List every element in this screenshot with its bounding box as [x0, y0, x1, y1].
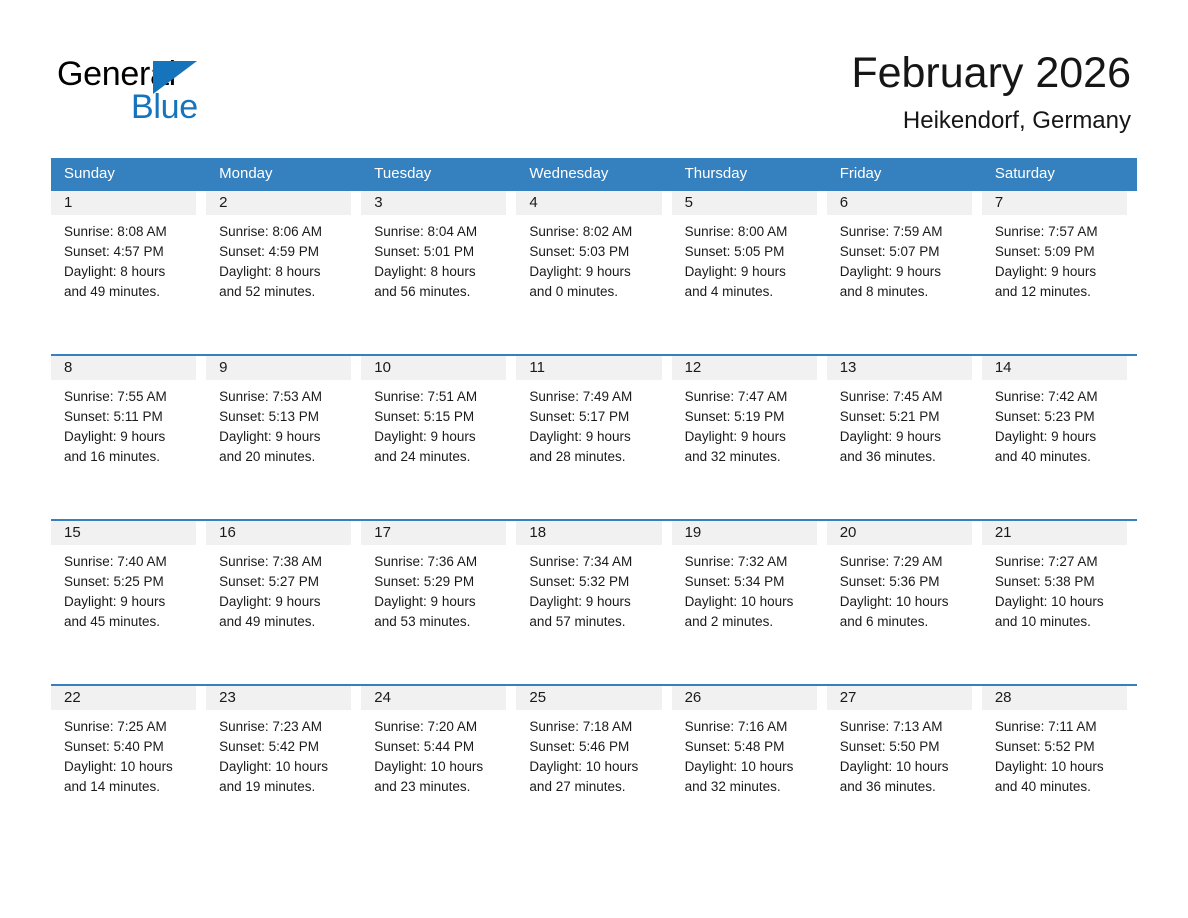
daylight-text-line2: and 14 minutes. — [64, 777, 196, 797]
day-number: 18 — [516, 521, 661, 545]
day-cell[interactable]: 8 Sunrise: 7:55 AM Sunset: 5:11 PM Dayli… — [51, 356, 206, 519]
daylight-text-line1: Daylight: 8 hours — [219, 262, 351, 282]
day-number: 23 — [206, 686, 351, 710]
sunrise-text: Sunrise: 7:57 AM — [995, 222, 1127, 242]
sunrise-text: Sunrise: 7:47 AM — [685, 387, 817, 407]
day-info: Sunrise: 7:34 AM Sunset: 5:32 PM Dayligh… — [516, 545, 661, 632]
sunset-text: Sunset: 5:36 PM — [840, 572, 972, 592]
daylight-text-line2: and 0 minutes. — [529, 282, 661, 302]
daylight-text-line2: and 16 minutes. — [64, 447, 196, 467]
day-cell[interactable]: 12 Sunrise: 7:47 AM Sunset: 5:19 PM Dayl… — [672, 356, 827, 519]
sunrise-text: Sunrise: 7:18 AM — [529, 717, 661, 737]
sunset-text: Sunset: 5:01 PM — [374, 242, 506, 262]
daylight-text-line1: Daylight: 8 hours — [374, 262, 506, 282]
daylight-text-line2: and 36 minutes. — [840, 777, 972, 797]
daylight-text-line2: and 19 minutes. — [219, 777, 351, 797]
daylight-text-line1: Daylight: 10 hours — [64, 757, 196, 777]
day-number: 25 — [516, 686, 661, 710]
day-info: Sunrise: 7:11 AM Sunset: 5:52 PM Dayligh… — [982, 710, 1127, 797]
daylight-text-line2: and 40 minutes. — [995, 777, 1127, 797]
generalblue-logo[interactable]: General Blue — [57, 54, 357, 134]
daylight-text-line2: and 32 minutes. — [685, 777, 817, 797]
sunset-text: Sunset: 5:17 PM — [529, 407, 661, 427]
day-number: 24 — [361, 686, 506, 710]
day-info: Sunrise: 7:16 AM Sunset: 5:48 PM Dayligh… — [672, 710, 817, 797]
sunrise-text: Sunrise: 7:27 AM — [995, 552, 1127, 572]
sunset-text: Sunset: 5:19 PM — [685, 407, 817, 427]
day-number: 2 — [206, 191, 351, 215]
day-number: 15 — [51, 521, 196, 545]
daylight-text-line1: Daylight: 9 hours — [529, 592, 661, 612]
day-cell[interactable]: 24 Sunrise: 7:20 AM Sunset: 5:44 PM Dayl… — [361, 686, 516, 849]
sunset-text: Sunset: 5:27 PM — [219, 572, 351, 592]
sunset-text: Sunset: 5:42 PM — [219, 737, 351, 757]
sunrise-text: Sunrise: 7:53 AM — [219, 387, 351, 407]
day-info: Sunrise: 7:18 AM Sunset: 5:46 PM Dayligh… — [516, 710, 661, 797]
sunrise-text: Sunrise: 7:51 AM — [374, 387, 506, 407]
sunrise-text: Sunrise: 8:06 AM — [219, 222, 351, 242]
day-number: 8 — [51, 356, 196, 380]
sunrise-text: Sunrise: 7:13 AM — [840, 717, 972, 737]
day-info: Sunrise: 7:40 AM Sunset: 5:25 PM Dayligh… — [51, 545, 196, 632]
sunset-text: Sunset: 5:32 PM — [529, 572, 661, 592]
day-cell[interactable]: 6 Sunrise: 7:59 AM Sunset: 5:07 PM Dayli… — [827, 191, 982, 354]
daylight-text-line1: Daylight: 9 hours — [840, 427, 972, 447]
daylight-text-line1: Daylight: 10 hours — [840, 592, 972, 612]
weekday-monday: Monday — [206, 158, 361, 189]
sunset-text: Sunset: 5:09 PM — [995, 242, 1127, 262]
day-info: Sunrise: 7:23 AM Sunset: 5:42 PM Dayligh… — [206, 710, 351, 797]
sunset-text: Sunset: 5:13 PM — [219, 407, 351, 427]
daylight-text-line2: and 6 minutes. — [840, 612, 972, 632]
day-number: 6 — [827, 191, 972, 215]
day-cell[interactable]: 17 Sunrise: 7:36 AM Sunset: 5:29 PM Dayl… — [361, 521, 516, 684]
daylight-text-line1: Daylight: 10 hours — [374, 757, 506, 777]
daylight-text-line2: and 12 minutes. — [995, 282, 1127, 302]
sunrise-text: Sunrise: 7:23 AM — [219, 717, 351, 737]
daylight-text-line1: Daylight: 9 hours — [685, 427, 817, 447]
daylight-text-line1: Daylight: 10 hours — [529, 757, 661, 777]
sunrise-text: Sunrise: 7:20 AM — [374, 717, 506, 737]
day-info: Sunrise: 7:13 AM Sunset: 5:50 PM Dayligh… — [827, 710, 972, 797]
calendar-grid: Sunday Monday Tuesday Wednesday Thursday… — [51, 158, 1137, 849]
day-cell[interactable]: 3 Sunrise: 8:04 AM Sunset: 5:01 PM Dayli… — [361, 191, 516, 354]
daylight-text-line1: Daylight: 9 hours — [374, 592, 506, 612]
day-info: Sunrise: 8:06 AM Sunset: 4:59 PM Dayligh… — [206, 215, 351, 302]
sunrise-text: Sunrise: 7:42 AM — [995, 387, 1127, 407]
day-cell[interactable]: 27 Sunrise: 7:13 AM Sunset: 5:50 PM Dayl… — [827, 686, 982, 849]
day-number: 27 — [827, 686, 972, 710]
daylight-text-line1: Daylight: 9 hours — [64, 427, 196, 447]
day-cell[interactable]: 2 Sunrise: 8:06 AM Sunset: 4:59 PM Dayli… — [206, 191, 361, 354]
daylight-text-line1: Daylight: 9 hours — [64, 592, 196, 612]
sunrise-text: Sunrise: 7:45 AM — [840, 387, 972, 407]
daylight-text-line2: and 36 minutes. — [840, 447, 972, 467]
sunset-text: Sunset: 5:05 PM — [685, 242, 817, 262]
day-cell[interactable]: 15 Sunrise: 7:40 AM Sunset: 5:25 PM Dayl… — [51, 521, 206, 684]
daylight-text-line2: and 40 minutes. — [995, 447, 1127, 467]
sunset-text: Sunset: 5:03 PM — [529, 242, 661, 262]
sunset-text: Sunset: 5:21 PM — [840, 407, 972, 427]
daylight-text-line2: and 8 minutes. — [840, 282, 972, 302]
sunrise-text: Sunrise: 7:59 AM — [840, 222, 972, 242]
day-cell[interactable]: 5 Sunrise: 8:00 AM Sunset: 5:05 PM Dayli… — [672, 191, 827, 354]
logo-text-blue: Blue — [131, 87, 198, 127]
day-number: 13 — [827, 356, 972, 380]
day-info: Sunrise: 7:59 AM Sunset: 5:07 PM Dayligh… — [827, 215, 972, 302]
day-cell[interactable]: 7 Sunrise: 7:57 AM Sunset: 5:09 PM Dayli… — [982, 191, 1137, 354]
sunset-text: Sunset: 5:23 PM — [995, 407, 1127, 427]
day-info: Sunrise: 7:53 AM Sunset: 5:13 PM Dayligh… — [206, 380, 351, 467]
daylight-text-line1: Daylight: 10 hours — [685, 757, 817, 777]
weekday-friday: Friday — [827, 158, 982, 189]
day-info: Sunrise: 8:04 AM Sunset: 5:01 PM Dayligh… — [361, 215, 506, 302]
page-title: February 2026 — [851, 47, 1131, 99]
daylight-text-line1: Daylight: 9 hours — [685, 262, 817, 282]
sunset-text: Sunset: 5:52 PM — [995, 737, 1127, 757]
day-cell[interactable]: 13 Sunrise: 7:45 AM Sunset: 5:21 PM Dayl… — [827, 356, 982, 519]
sunset-text: Sunset: 5:29 PM — [374, 572, 506, 592]
daylight-text-line1: Daylight: 10 hours — [685, 592, 817, 612]
day-cell[interactable]: 23 Sunrise: 7:23 AM Sunset: 5:42 PM Dayl… — [206, 686, 361, 849]
daylight-text-line2: and 49 minutes. — [64, 282, 196, 302]
daylight-text-line1: Daylight: 9 hours — [374, 427, 506, 447]
sunset-text: Sunset: 5:38 PM — [995, 572, 1127, 592]
daylight-text-line2: and 32 minutes. — [685, 447, 817, 467]
sunrise-text: Sunrise: 7:36 AM — [374, 552, 506, 572]
sunset-text: Sunset: 4:59 PM — [219, 242, 351, 262]
day-number: 19 — [672, 521, 817, 545]
day-info: Sunrise: 7:32 AM Sunset: 5:34 PM Dayligh… — [672, 545, 817, 632]
sunrise-text: Sunrise: 7:38 AM — [219, 552, 351, 572]
week-row: 15 Sunrise: 7:40 AM Sunset: 5:25 PM Dayl… — [51, 519, 1137, 684]
sunrise-text: Sunrise: 8:04 AM — [374, 222, 506, 242]
daylight-text-line1: Daylight: 8 hours — [64, 262, 196, 282]
sunrise-text: Sunrise: 7:25 AM — [64, 717, 196, 737]
daylight-text-line1: Daylight: 9 hours — [995, 427, 1127, 447]
day-cell[interactable]: 9 Sunrise: 7:53 AM Sunset: 5:13 PM Dayli… — [206, 356, 361, 519]
day-info: Sunrise: 7:42 AM Sunset: 5:23 PM Dayligh… — [982, 380, 1127, 467]
week-row: 8 Sunrise: 7:55 AM Sunset: 5:11 PM Dayli… — [51, 354, 1137, 519]
sunrise-text: Sunrise: 7:11 AM — [995, 717, 1127, 737]
daylight-text-line1: Daylight: 10 hours — [995, 757, 1127, 777]
sunrise-text: Sunrise: 7:16 AM — [685, 717, 817, 737]
day-number: 16 — [206, 521, 351, 545]
weekday-sunday: Sunday — [51, 158, 206, 189]
day-cell[interactable]: 16 Sunrise: 7:38 AM Sunset: 5:27 PM Dayl… — [206, 521, 361, 684]
daylight-text-line1: Daylight: 9 hours — [995, 262, 1127, 282]
day-info: Sunrise: 7:47 AM Sunset: 5:19 PM Dayligh… — [672, 380, 817, 467]
day-number: 14 — [982, 356, 1127, 380]
daylight-text-line2: and 24 minutes. — [374, 447, 506, 467]
day-cell[interactable]: 21 Sunrise: 7:27 AM Sunset: 5:38 PM Dayl… — [982, 521, 1137, 684]
day-number: 26 — [672, 686, 817, 710]
day-info: Sunrise: 7:27 AM Sunset: 5:38 PM Dayligh… — [982, 545, 1127, 632]
day-number: 10 — [361, 356, 506, 380]
daylight-text-line1: Daylight: 9 hours — [840, 262, 972, 282]
day-info: Sunrise: 7:55 AM Sunset: 5:11 PM Dayligh… — [51, 380, 196, 467]
day-number: 11 — [516, 356, 661, 380]
sunrise-text: Sunrise: 7:55 AM — [64, 387, 196, 407]
weekday-saturday: Saturday — [982, 158, 1137, 189]
sunset-text: Sunset: 5:44 PM — [374, 737, 506, 757]
day-info: Sunrise: 7:51 AM Sunset: 5:15 PM Dayligh… — [361, 380, 506, 467]
daylight-text-line1: Daylight: 9 hours — [219, 427, 351, 447]
sunrise-text: Sunrise: 8:00 AM — [685, 222, 817, 242]
sunset-text: Sunset: 4:57 PM — [64, 242, 196, 262]
daylight-text-line2: and 53 minutes. — [374, 612, 506, 632]
weekday-tuesday: Tuesday — [361, 158, 516, 189]
day-cell[interactable]: 25 Sunrise: 7:18 AM Sunset: 5:46 PM Dayl… — [516, 686, 671, 849]
daylight-text-line1: Daylight: 9 hours — [529, 262, 661, 282]
day-number: 5 — [672, 191, 817, 215]
sunset-text: Sunset: 5:48 PM — [685, 737, 817, 757]
day-cell[interactable]: 10 Sunrise: 7:51 AM Sunset: 5:15 PM Dayl… — [361, 356, 516, 519]
sunset-text: Sunset: 5:50 PM — [840, 737, 972, 757]
calendar-page: General Blue February 2026 Heikendorf, G… — [0, 0, 1188, 918]
sunset-text: Sunset: 5:25 PM — [64, 572, 196, 592]
day-number: 1 — [51, 191, 196, 215]
title-block: February 2026 Heikendorf, Germany — [851, 47, 1131, 136]
week-row: 22 Sunrise: 7:25 AM Sunset: 5:40 PM Dayl… — [51, 684, 1137, 849]
daylight-text-line2: and 20 minutes. — [219, 447, 351, 467]
daylight-text-line2: and 2 minutes. — [685, 612, 817, 632]
daylight-text-line2: and 57 minutes. — [529, 612, 661, 632]
day-cell[interactable]: 18 Sunrise: 7:34 AM Sunset: 5:32 PM Dayl… — [516, 521, 671, 684]
day-info: Sunrise: 7:20 AM Sunset: 5:44 PM Dayligh… — [361, 710, 506, 797]
day-cell[interactable]: 28 Sunrise: 7:11 AM Sunset: 5:52 PM Dayl… — [982, 686, 1137, 849]
day-cell[interactable]: 19 Sunrise: 7:32 AM Sunset: 5:34 PM Dayl… — [672, 521, 827, 684]
daylight-text-line2: and 28 minutes. — [529, 447, 661, 467]
day-number: 21 — [982, 521, 1127, 545]
day-info: Sunrise: 7:25 AM Sunset: 5:40 PM Dayligh… — [51, 710, 196, 797]
daylight-text-line2: and 56 minutes. — [374, 282, 506, 302]
day-cell[interactable]: 22 Sunrise: 7:25 AM Sunset: 5:40 PM Dayl… — [51, 686, 206, 849]
daylight-text-line1: Daylight: 10 hours — [219, 757, 351, 777]
daylight-text-line2: and 4 minutes. — [685, 282, 817, 302]
day-number: 9 — [206, 356, 351, 380]
daylight-text-line1: Daylight: 10 hours — [840, 757, 972, 777]
day-info: Sunrise: 8:08 AM Sunset: 4:57 PM Dayligh… — [51, 215, 196, 302]
day-number: 7 — [982, 191, 1127, 215]
daylight-text-line2: and 49 minutes. — [219, 612, 351, 632]
daylight-text-line2: and 10 minutes. — [995, 612, 1127, 632]
sunrise-text: Sunrise: 7:32 AM — [685, 552, 817, 572]
day-info: Sunrise: 8:02 AM Sunset: 5:03 PM Dayligh… — [516, 215, 661, 302]
page-header: General Blue February 2026 Heikendorf, G… — [0, 0, 1188, 152]
daylight-text-line1: Daylight: 9 hours — [219, 592, 351, 612]
sunset-text: Sunset: 5:15 PM — [374, 407, 506, 427]
sunset-text: Sunset: 5:07 PM — [840, 242, 972, 262]
day-number: 4 — [516, 191, 661, 215]
daylight-text-line2: and 52 minutes. — [219, 282, 351, 302]
day-info: Sunrise: 7:29 AM Sunset: 5:36 PM Dayligh… — [827, 545, 972, 632]
day-cell[interactable]: 4 Sunrise: 8:02 AM Sunset: 5:03 PM Dayli… — [516, 191, 671, 354]
day-cell[interactable]: 1 Sunrise: 8:08 AM Sunset: 4:57 PM Dayli… — [51, 191, 206, 354]
day-cell[interactable]: 14 Sunrise: 7:42 AM Sunset: 5:23 PM Dayl… — [982, 356, 1137, 519]
sunrise-text: Sunrise: 8:08 AM — [64, 222, 196, 242]
weekday-thursday: Thursday — [672, 158, 827, 189]
day-cell[interactable]: 26 Sunrise: 7:16 AM Sunset: 5:48 PM Dayl… — [672, 686, 827, 849]
sunset-text: Sunset: 5:11 PM — [64, 407, 196, 427]
sunrise-text: Sunrise: 7:40 AM — [64, 552, 196, 572]
sunset-text: Sunset: 5:34 PM — [685, 572, 817, 592]
day-info: Sunrise: 7:49 AM Sunset: 5:17 PM Dayligh… — [516, 380, 661, 467]
day-info: Sunrise: 7:45 AM Sunset: 5:21 PM Dayligh… — [827, 380, 972, 467]
weekday-wednesday: Wednesday — [516, 158, 671, 189]
sunset-text: Sunset: 5:40 PM — [64, 737, 196, 757]
page-subtitle: Heikendorf, Germany — [851, 106, 1131, 136]
sunrise-text: Sunrise: 8:02 AM — [529, 222, 661, 242]
daylight-text-line2: and 45 minutes. — [64, 612, 196, 632]
sunset-text: Sunset: 5:46 PM — [529, 737, 661, 757]
daylight-text-line2: and 23 minutes. — [374, 777, 506, 797]
day-number: 3 — [361, 191, 506, 215]
day-info: Sunrise: 8:00 AM Sunset: 5:05 PM Dayligh… — [672, 215, 817, 302]
week-row: 1 Sunrise: 8:08 AM Sunset: 4:57 PM Dayli… — [51, 189, 1137, 354]
day-number: 12 — [672, 356, 817, 380]
daylight-text-line1: Daylight: 10 hours — [995, 592, 1127, 612]
day-number: 17 — [361, 521, 506, 545]
sunrise-text: Sunrise: 7:49 AM — [529, 387, 661, 407]
day-cell[interactable]: 11 Sunrise: 7:49 AM Sunset: 5:17 PM Dayl… — [516, 356, 671, 519]
day-info: Sunrise: 7:38 AM Sunset: 5:27 PM Dayligh… — [206, 545, 351, 632]
day-info: Sunrise: 7:36 AM Sunset: 5:29 PM Dayligh… — [361, 545, 506, 632]
day-number: 28 — [982, 686, 1127, 710]
daylight-text-line2: and 27 minutes. — [529, 777, 661, 797]
day-info: Sunrise: 7:57 AM Sunset: 5:09 PM Dayligh… — [982, 215, 1127, 302]
weekday-header-row: Sunday Monday Tuesday Wednesday Thursday… — [51, 158, 1137, 189]
day-cell[interactable]: 20 Sunrise: 7:29 AM Sunset: 5:36 PM Dayl… — [827, 521, 982, 684]
daylight-text-line1: Daylight: 9 hours — [529, 427, 661, 447]
sunrise-text: Sunrise: 7:29 AM — [840, 552, 972, 572]
sunrise-text: Sunrise: 7:34 AM — [529, 552, 661, 572]
day-number: 22 — [51, 686, 196, 710]
day-number: 20 — [827, 521, 972, 545]
